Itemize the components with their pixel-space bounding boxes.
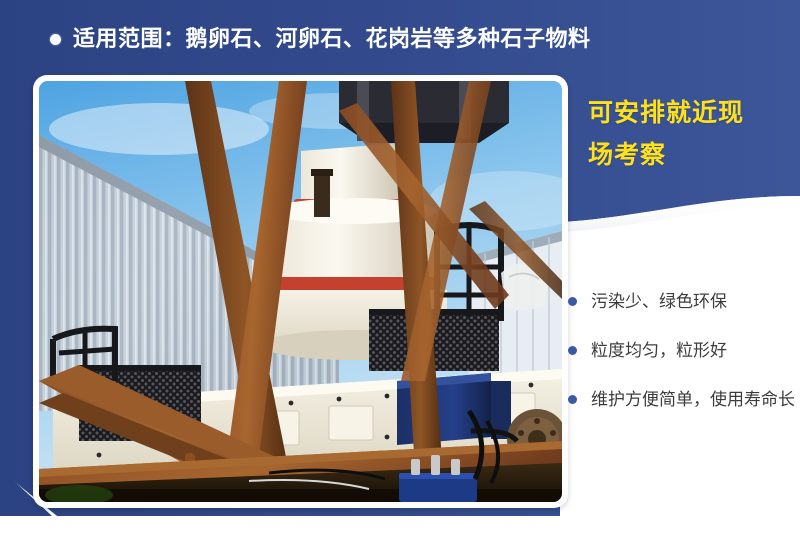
bullet-dot-icon: [50, 34, 61, 45]
list-item: 维护方便简单，使用寿命长: [568, 386, 800, 414]
callout-text: 可安排就近现 场考察: [588, 92, 788, 176]
bullet-dot-icon: [568, 395, 577, 404]
machine-photo: 7: [39, 81, 562, 502]
feature-label: 污染少、绿色环保: [591, 288, 727, 316]
photo-card: 7: [33, 75, 568, 508]
feature-label: 粒度均匀，粒形好: [591, 337, 727, 365]
callout-line-1: 可安排就近现: [588, 92, 788, 134]
header-bar: 适用范围：鹅卵石、河卵石、花岗岩等多种石子物料: [0, 18, 800, 60]
bullet-dot-icon: [568, 346, 577, 355]
list-item: 污染少、绿色环保: [568, 288, 800, 316]
callout-line-2: 场考察: [588, 134, 788, 176]
header-title: 适用范围：鹅卵石、河卵石、花岗岩等多种石子物料: [73, 28, 591, 50]
banner-stage: 适用范围：鹅卵石、河卵石、花岗岩等多种石子物料: [0, 0, 800, 533]
list-item: 粒度均匀，粒形好: [568, 337, 800, 365]
bullet-dot-icon: [568, 297, 577, 306]
feature-list: 污染少、绿色环保 粒度均匀，粒形好 维护方便简单，使用寿命长: [568, 288, 800, 414]
feature-label: 维护方便简单，使用寿命长: [591, 386, 795, 414]
